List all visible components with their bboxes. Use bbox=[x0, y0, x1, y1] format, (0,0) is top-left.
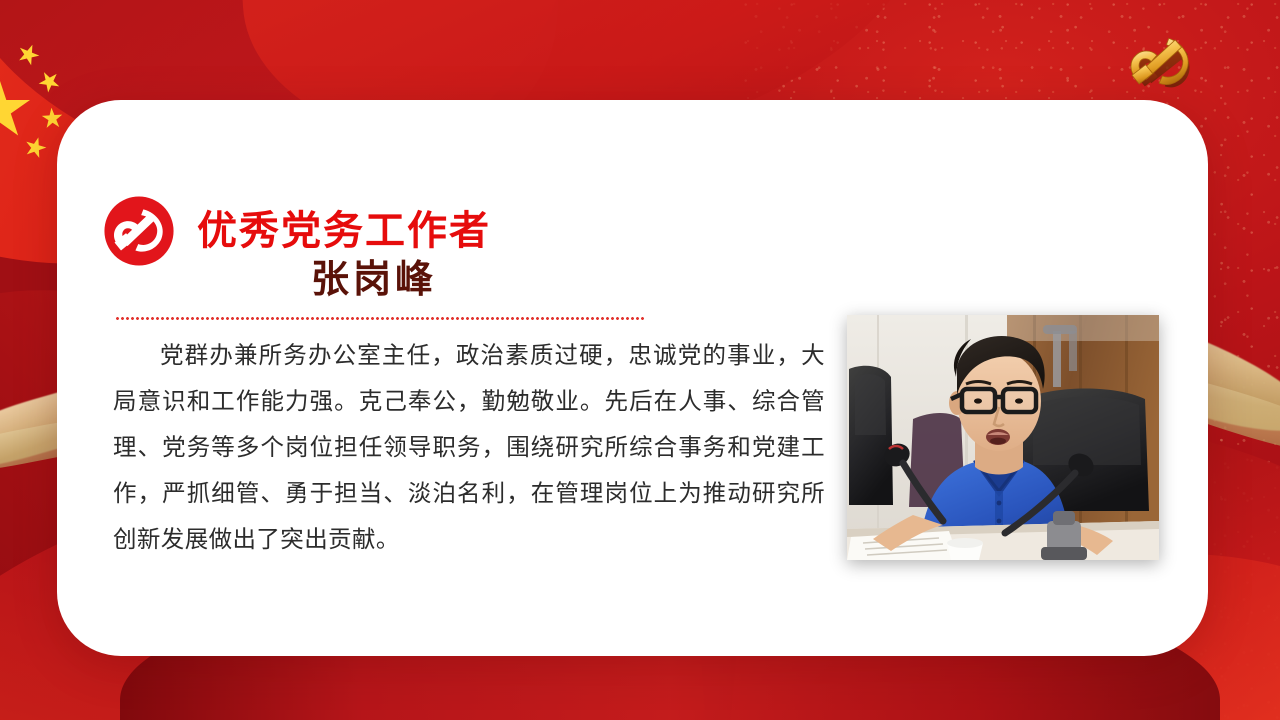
flag-star-small-1 bbox=[15, 41, 42, 68]
flag-star-large bbox=[0, 78, 30, 140]
flag-star-small-2 bbox=[35, 67, 65, 97]
dotted-divider bbox=[115, 317, 645, 320]
party-emblem-icon bbox=[103, 195, 175, 267]
content-card: 优秀党务工作者 张岗峰 党群办兼所务办公室主任，政治素质过硬，忠诚党的事业，大局… bbox=[57, 100, 1208, 656]
person-description: 党群办兼所务办公室主任，政治素质过硬，忠诚党的事业，大局意识和工作能力强。克己奉… bbox=[113, 332, 825, 562]
flag-star-small-4 bbox=[23, 135, 49, 161]
slide-root: 优秀党务工作者 张岗峰 党群办兼所务办公室主任，政治素质过硬，忠诚党的事业，大局… bbox=[0, 0, 1280, 720]
portrait-photo bbox=[847, 315, 1159, 560]
person-name: 张岗峰 bbox=[103, 260, 645, 298]
page-title: 优秀党务工作者 bbox=[197, 211, 491, 251]
party-emblem-gold-icon bbox=[1116, 24, 1212, 104]
flag-star-small-3 bbox=[39, 105, 66, 132]
